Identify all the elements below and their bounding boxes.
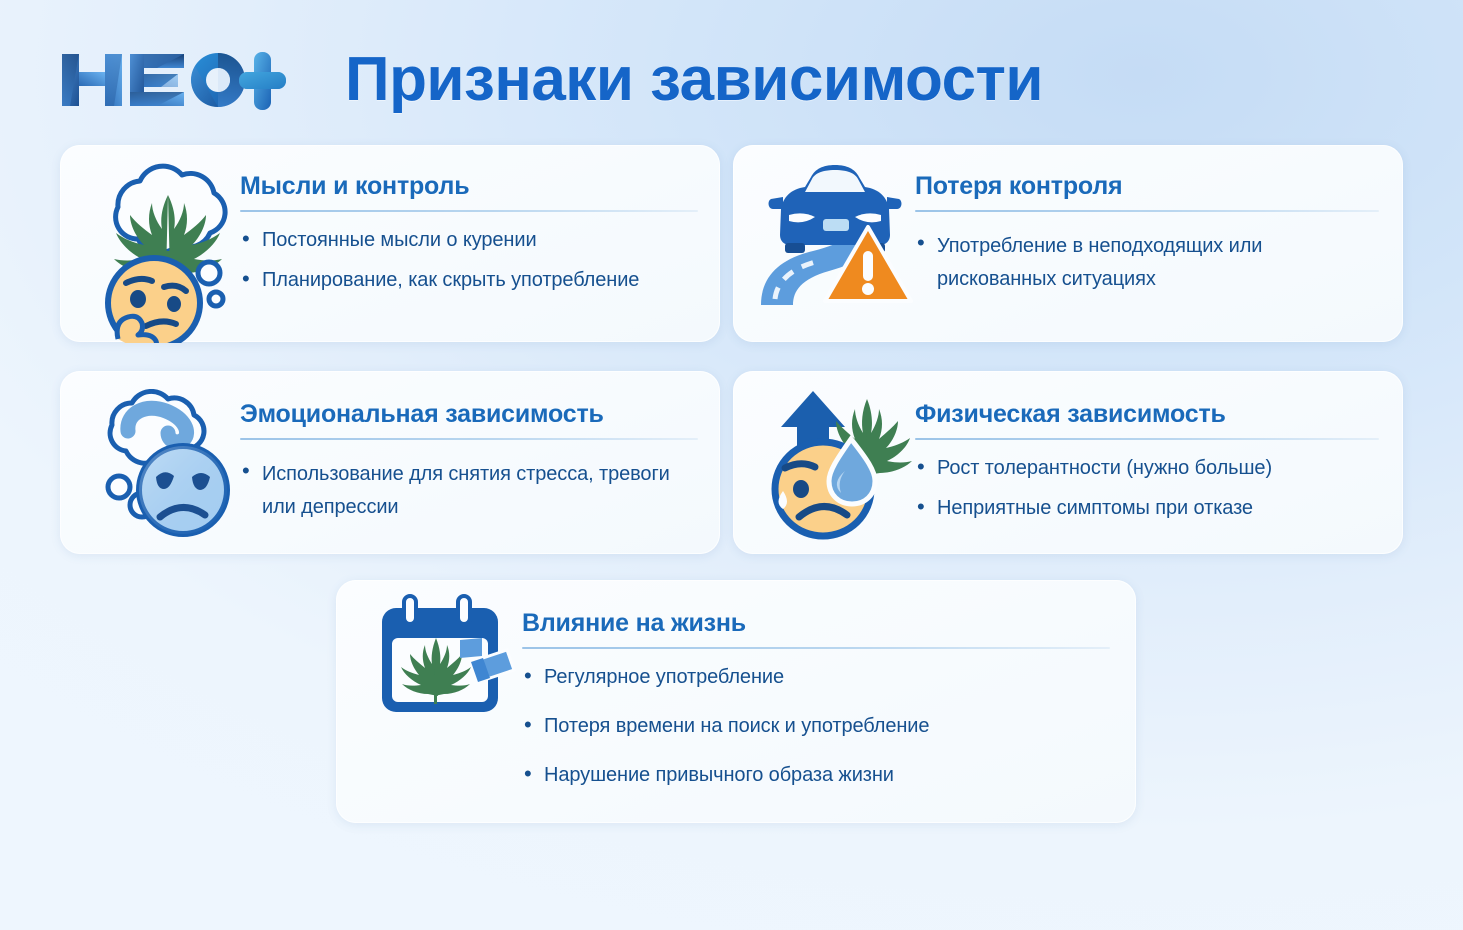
card-thoughts-and-control[interactable]: Мысли и контроль Постоянные мысли о куре… [60,145,720,342]
header: Признаки зависимости [0,0,1463,140]
bullet-list: Употребление в неподходящих или рискован… [915,230,1379,296]
card-emotional-dependence[interactable]: Эмоциональная зависимость Использование … [60,371,720,554]
divider [915,438,1379,440]
divider [915,210,1379,212]
heo-plus-logo [58,44,288,116]
list-item: Потеря времени на поиск и употребление [522,712,1110,740]
divider [522,647,1110,649]
list-item: Планирование, как скрыть употребление [240,266,698,294]
divider [240,438,698,440]
card-title: Эмоциональная зависимость [240,399,698,429]
bullet-list: Рост толерантности (нужно больше) Неприя… [915,454,1379,522]
card-content: Физическая зависимость Рост толерантност… [915,399,1379,522]
bullet-list: Регулярное употребление Потеря времени н… [522,663,1110,789]
sad-blue-face-with-thought-bubble-icon [90,389,250,539]
card-content: Потеря контроля Употребление в неподходя… [915,171,1379,296]
card-content: Мысли и контроль Постоянные мысли о куре… [240,171,698,294]
bullet-list: Использование для снятия стресса, тревог… [240,458,698,524]
list-item: Нарушение привычного образа жизни [522,761,1110,789]
list-item: Постоянные мысли о курении [240,226,698,254]
car-on-road-with-warning-triangle-icon [753,159,918,309]
card-title: Потеря контроля [915,171,1379,201]
thinking-face-with-cannabis-thought-bubble-icon [82,163,242,343]
card-title: Физическая зависимость [915,399,1379,429]
divider [240,210,698,212]
card-physical-dependence[interactable]: Физическая зависимость Рост толерантност… [733,371,1403,554]
list-item: Рост толерантности (нужно больше) [915,454,1379,482]
list-item: Неприятные симптомы при отказе [915,494,1379,522]
card-content: Эмоциональная зависимость Использование … [240,399,698,524]
card-loss-of-control[interactable]: Потеря контроля Употребление в неподходя… [733,145,1403,342]
bullet-list: Постоянные мысли о курении Планирование,… [240,226,698,294]
card-content: Влияние на жизнь Регулярное употребление… [522,608,1110,810]
list-item: Употребление в неподходящих или рискован… [915,230,1379,296]
page-title: Признаки зависимости [345,44,1043,116]
list-item: Использование для снятия стресса, тревог… [240,458,698,524]
list-item: Регулярное употребление [522,663,1110,691]
sweating-sad-face-with-up-arrow-and-leaf-icon [755,383,920,541]
infographic-canvas: Признаки зависимости [0,0,1463,930]
card-title: Влияние на жизнь [522,608,1110,638]
calendar-with-cannabis-leaf-and-joint-icon [374,594,524,719]
card-title: Мысли и контроль [240,171,698,201]
card-impact-on-life[interactable]: Влияние на жизнь Регулярное употребление… [336,580,1136,823]
